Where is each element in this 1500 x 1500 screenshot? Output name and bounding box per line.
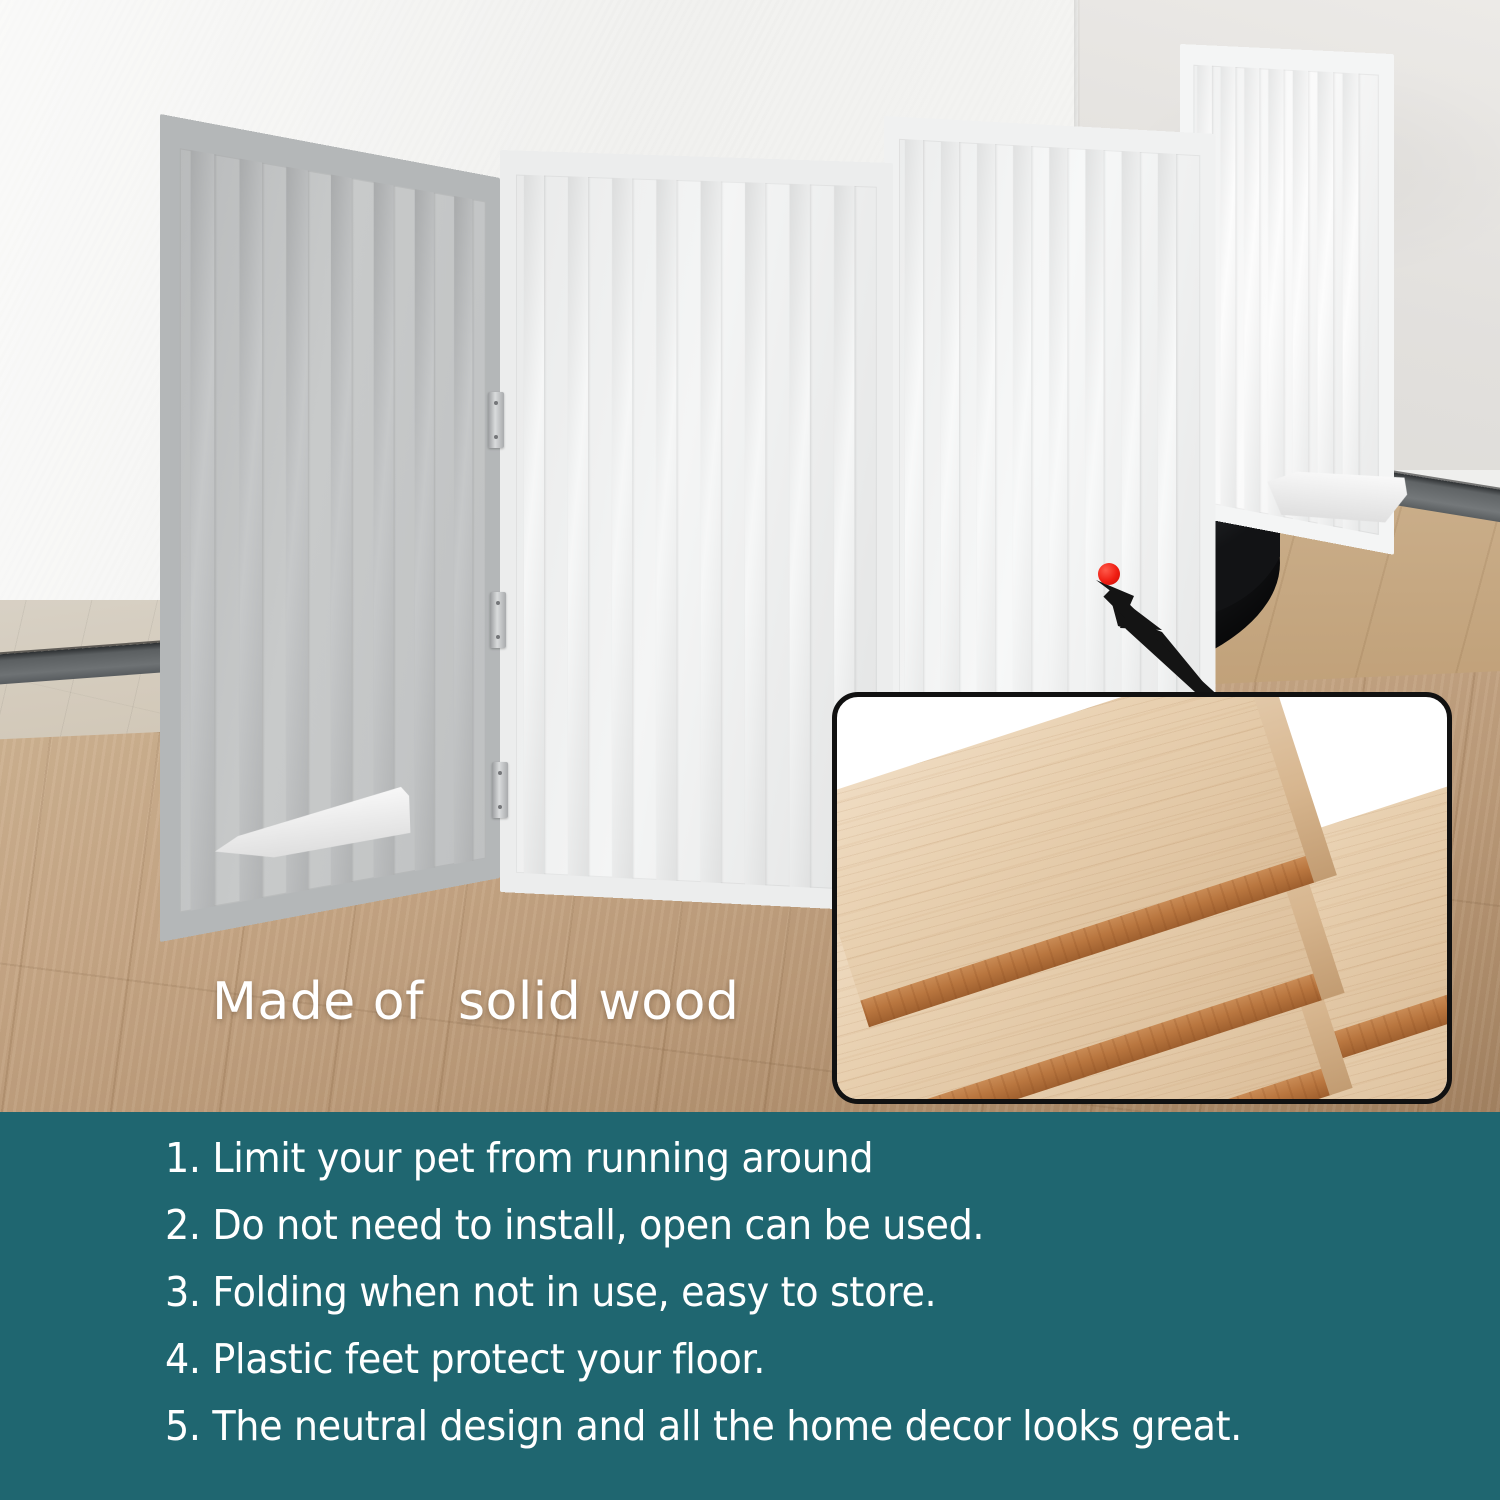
feature-item: 5. The neutral design and all the home d… (165, 1406, 1365, 1447)
hinge-top (488, 392, 504, 448)
slat (331, 175, 352, 886)
slat (286, 167, 308, 894)
slat (1293, 70, 1308, 522)
slat (701, 181, 721, 883)
slat (191, 150, 215, 911)
panel-slats (1193, 65, 1378, 535)
feature-item: 2. Do not need to install, open can be u… (165, 1205, 1365, 1246)
feature-item: 3. Folding when not in use, easy to stor… (165, 1272, 1365, 1313)
solid-wood-inset-photo (832, 692, 1452, 1104)
slat (374, 182, 394, 878)
slat (240, 159, 263, 902)
slat (745, 182, 765, 885)
slat (1268, 69, 1283, 518)
product-infographic: Made of solid wood (0, 0, 1500, 1500)
panel-slats (180, 148, 486, 912)
slat (656, 179, 676, 881)
slat (454, 196, 472, 864)
slat (1221, 66, 1236, 508)
hinge-mid (490, 592, 506, 648)
plastic-foot-marker-dot (1098, 563, 1120, 585)
panel-slats (516, 175, 877, 891)
slat (1244, 67, 1259, 512)
made-of-solid-wood-caption: Made of solid wood (212, 972, 739, 1032)
feature-item: 1. Limit your pet from running around (165, 1138, 1365, 1179)
slat (415, 189, 434, 871)
slat (612, 178, 632, 879)
feature-list-band: 1. Limit your pet from running around 2.… (0, 1112, 1500, 1500)
product-photo: Made of solid wood (0, 0, 1500, 1112)
feature-item: 4. Plastic feet protect your floor. (165, 1339, 1365, 1380)
slat (524, 175, 544, 874)
slat (790, 184, 810, 888)
slat (568, 176, 588, 876)
slat (1318, 71, 1334, 526)
hinge-bottom (492, 762, 508, 818)
feature-list: 1. Limit your pet from running around 2.… (165, 1138, 1455, 1473)
slat (1343, 73, 1359, 532)
